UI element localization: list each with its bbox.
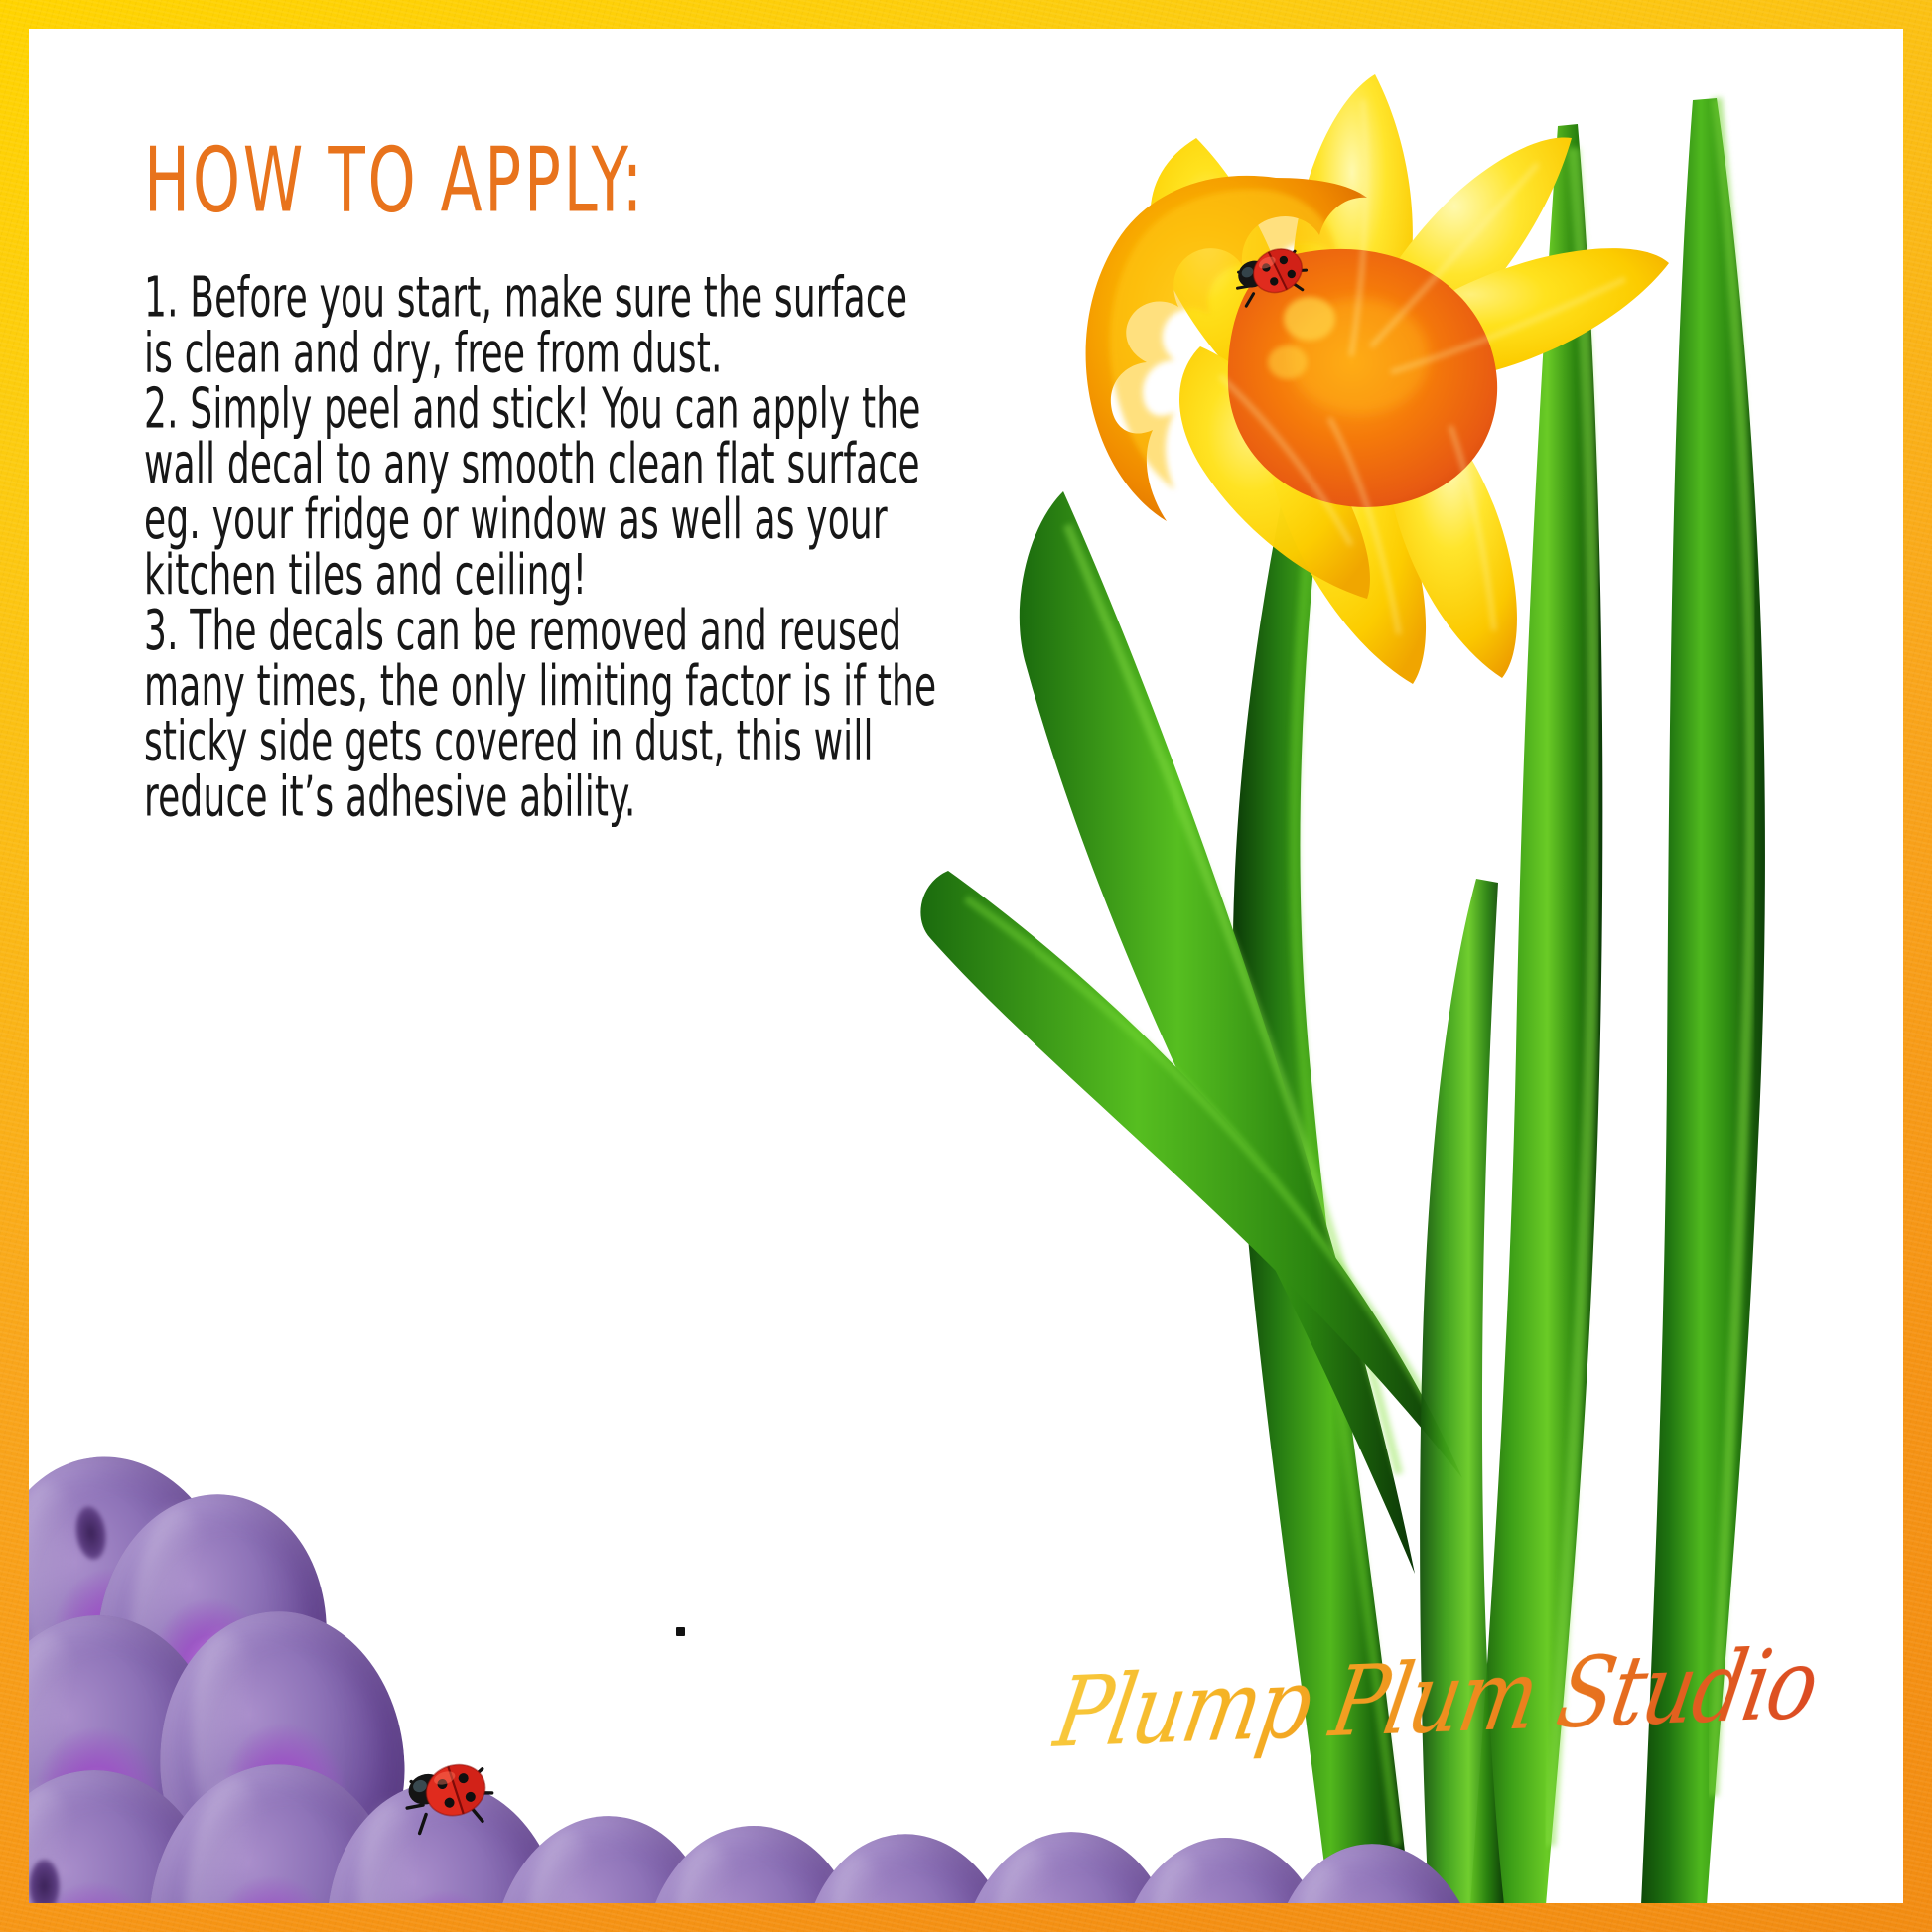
plum [642, 1826, 865, 1903]
plum [84, 1483, 341, 1784]
plum [29, 1441, 255, 1770]
daffodil-bloom [1086, 74, 1669, 684]
page-title: HOW TO APPLY: [144, 136, 929, 225]
petal-bottom-left [1268, 378, 1426, 684]
plum [137, 1754, 410, 1903]
instructions-block: HOW TO APPLY: 1. Before you start, make … [144, 136, 998, 698]
poster-sheet: HOW TO APPLY: 1. Before you start, make … [29, 29, 1903, 1903]
petal-bottom-right [1385, 386, 1517, 678]
ladybug-on-plum [398, 1746, 501, 1836]
flower-core [1228, 249, 1497, 507]
petal-top-left [1151, 138, 1302, 422]
petal-top [1292, 74, 1413, 424]
plum [29, 1770, 219, 1903]
instruction-step: 3. The decals can be removed and reused … [144, 604, 938, 826]
plum [29, 1615, 221, 1903]
ladybug-on-flower [1230, 235, 1315, 309]
leaf-arching-upper [1020, 491, 1415, 1574]
plum [789, 1825, 1032, 1903]
petal-right [1349, 248, 1669, 383]
plum [320, 1776, 571, 1903]
leaf-back-mid [1470, 124, 1602, 1903]
plum [150, 1603, 414, 1903]
stray-mark [676, 1627, 685, 1636]
brand-signature: Plump Plum Studio [1047, 1628, 1826, 1769]
poster-card: HOW TO APPLY: 1. Before you start, make … [0, 0, 1932, 1932]
instruction-step: 2. Simply peel and stick! You can apply … [144, 382, 938, 605]
petal-top-right [1337, 137, 1572, 382]
plum [1117, 1838, 1333, 1903]
instruction-step: 1. Before you start, make sure the surfa… [144, 271, 938, 382]
petal-left-lower [1179, 346, 1370, 599]
plum [482, 1808, 727, 1903]
instructions-list: 1. Before you start, make sure the surfa… [144, 271, 938, 826]
trumpet-corona [1086, 176, 1367, 521]
plum [951, 1826, 1185, 1903]
leaf-lower-left [920, 871, 1462, 1478]
plum [1261, 1837, 1492, 1903]
